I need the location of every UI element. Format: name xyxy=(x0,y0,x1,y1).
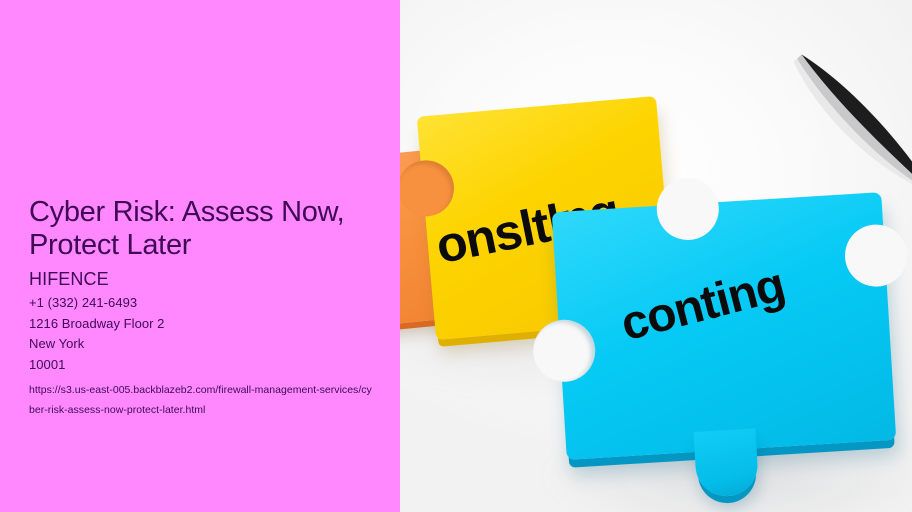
contact-phone: +1 (332) 241-6493 xyxy=(29,293,400,314)
photo-backdrop: onsltlng conting xyxy=(400,0,912,512)
contact-zip: 10001 xyxy=(29,355,400,376)
brand-name: HIFENCE xyxy=(29,268,400,291)
puzzle-piece-cyan: conting xyxy=(552,192,897,460)
info-content: Cyber Risk: Assess Now, Protect Later HI… xyxy=(29,196,400,420)
info-panel: Cyber Risk: Assess Now, Protect Later HI… xyxy=(0,0,400,512)
photo-panel: onsltlng conting xyxy=(400,0,912,512)
page-url[interactable]: https://s3.us-east-005.backblazeb2.com/f… xyxy=(29,380,377,420)
promo-card: Cyber Risk: Assess Now, Protect Later HI… xyxy=(0,0,912,512)
page-title: Cyber Risk: Assess Now, Protect Later xyxy=(29,196,400,262)
pen-tip-icon xyxy=(765,46,912,199)
contact-city: New York xyxy=(29,334,400,355)
contact-street: 1216 Broadway Floor 2 xyxy=(29,314,400,335)
contact-details: +1 (332) 241-6493 1216 Broadway Floor 2 … xyxy=(29,293,400,375)
